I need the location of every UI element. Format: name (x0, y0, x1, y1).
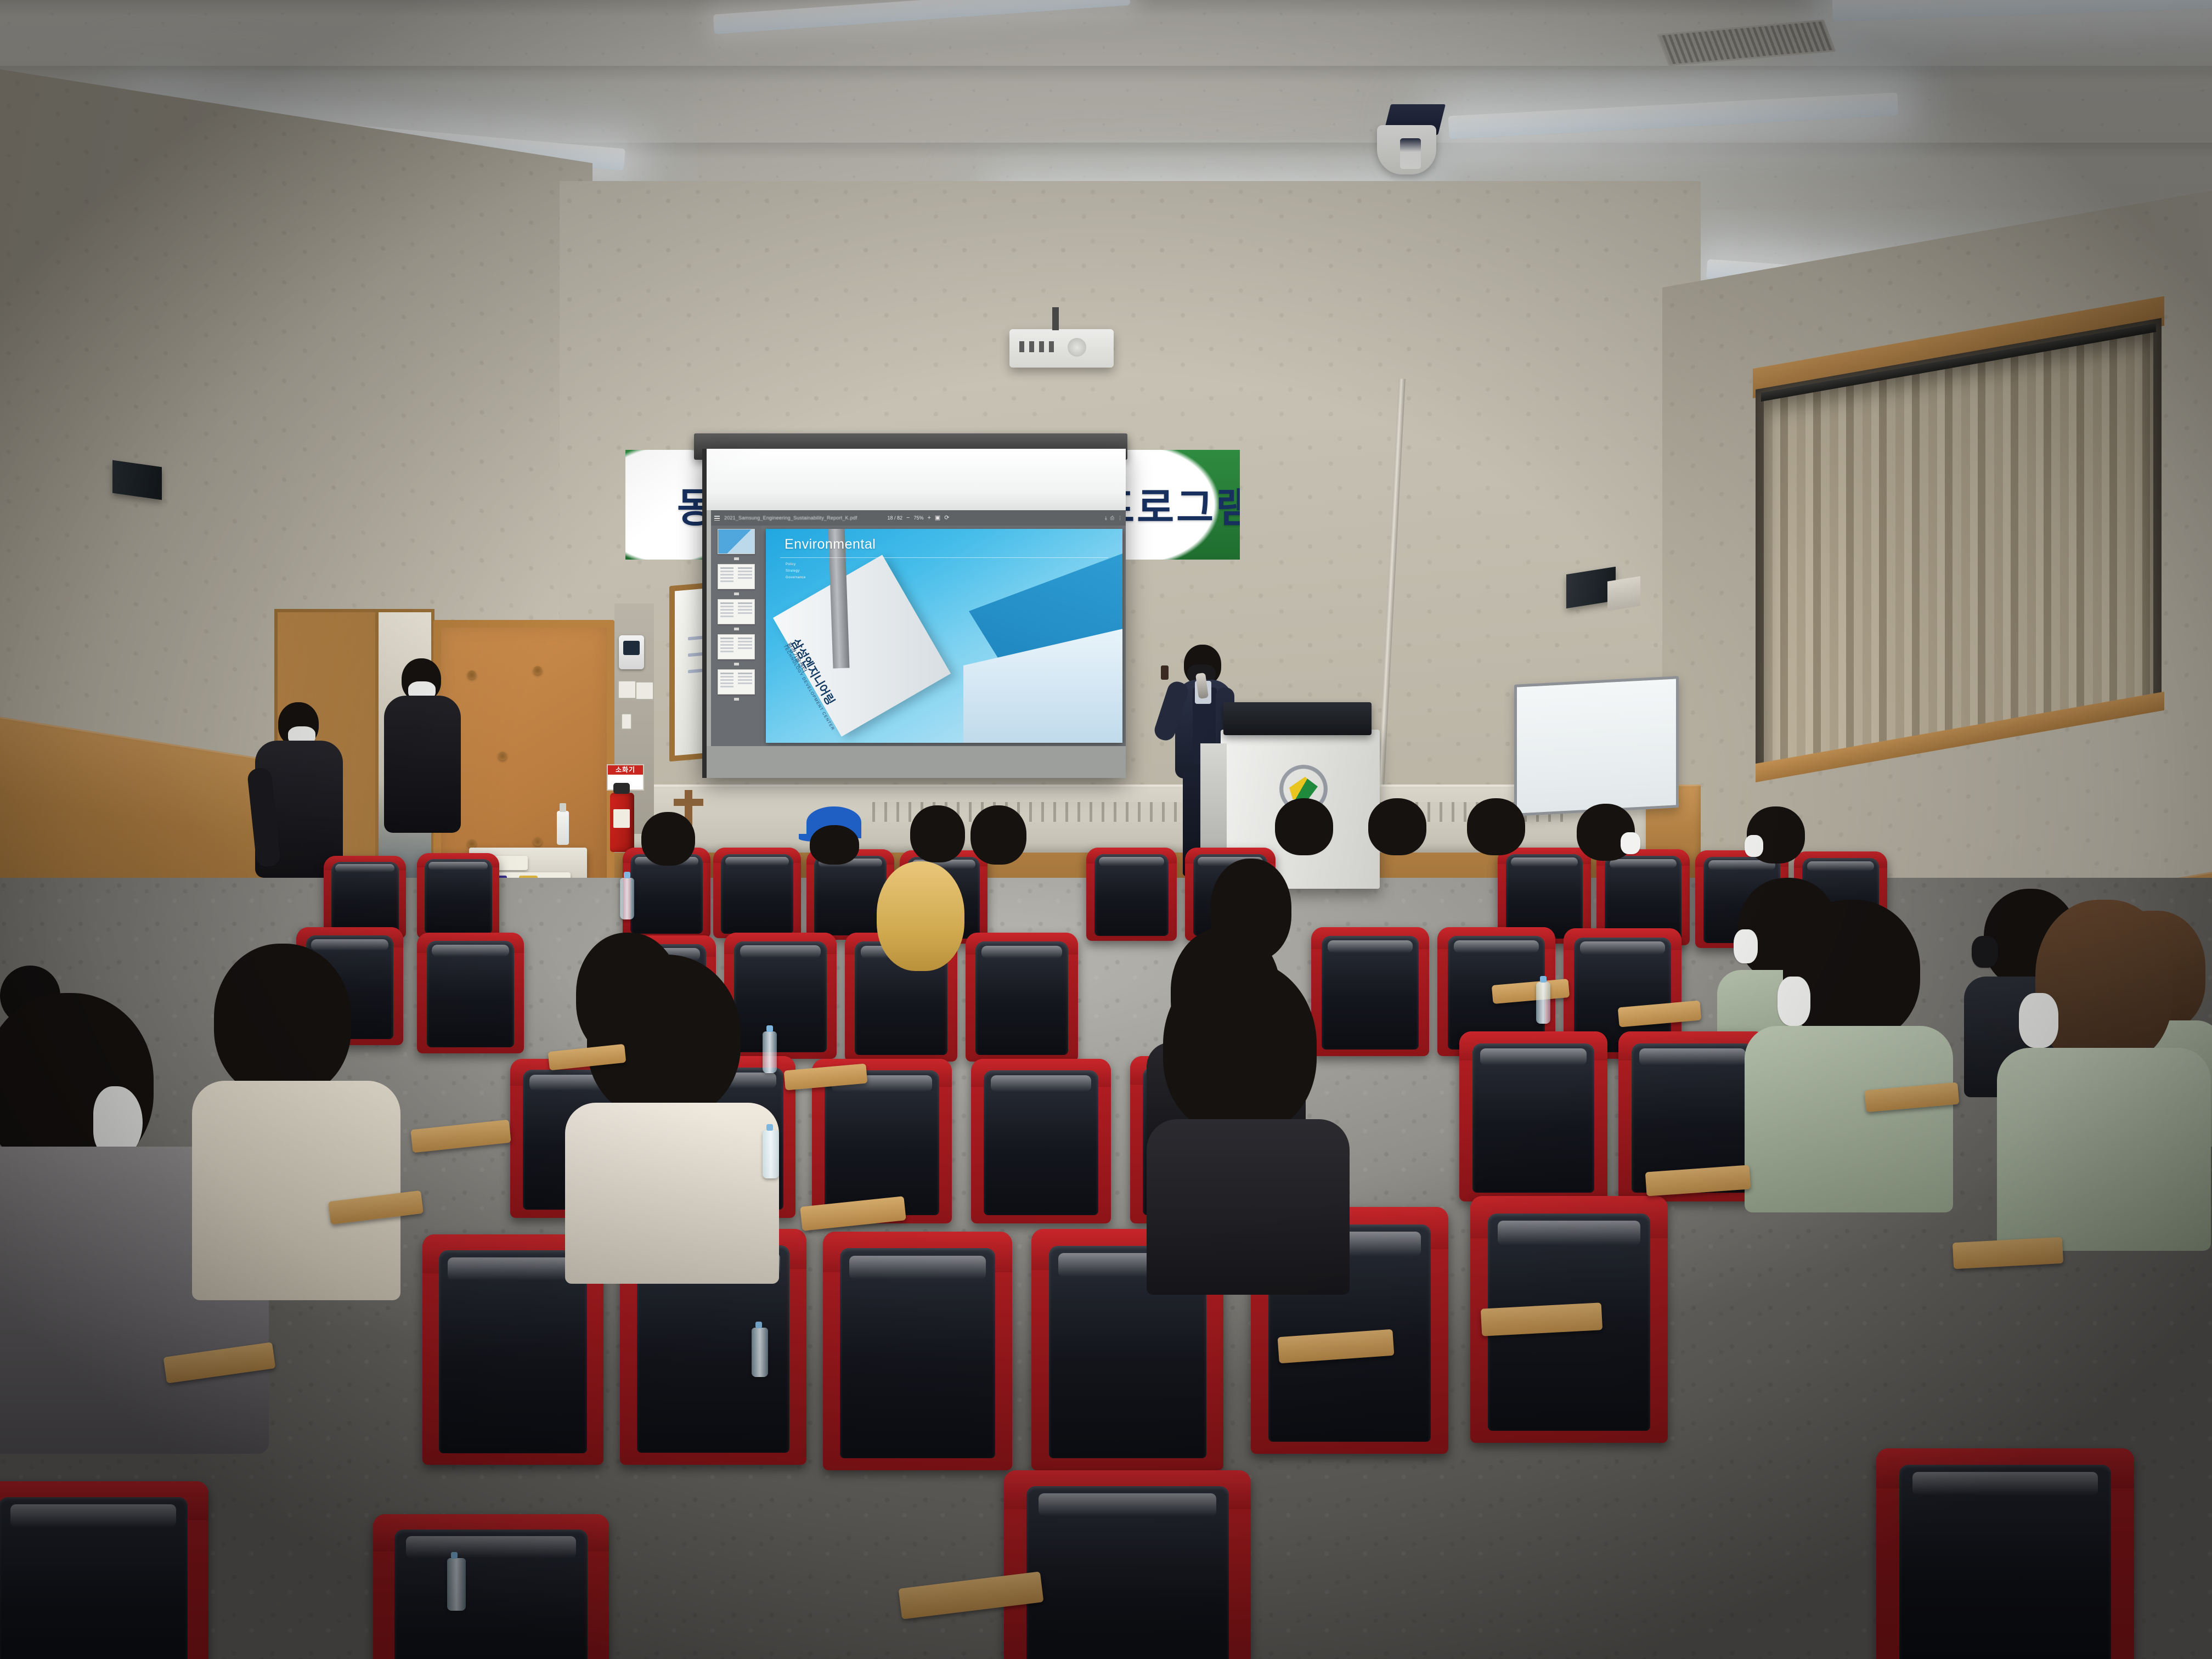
pdf-thumbnail-sidebar[interactable] (711, 526, 761, 746)
audience-head (910, 805, 965, 862)
lecture-hall-photo: 동 프로그램 소화기 (0, 0, 2212, 1659)
fire-extinguisher (610, 793, 634, 852)
staff-member (384, 658, 466, 856)
more-options-icon[interactable]: ⋮ (1118, 515, 1122, 521)
water-bottle (620, 878, 634, 919)
seat (373, 1514, 609, 1659)
download-icon[interactable]: ⤓ (1105, 515, 1107, 521)
seat (417, 853, 499, 938)
water-bottle (763, 1130, 779, 1178)
pdf-thumbnail-number (734, 628, 739, 630)
screen-overexposed-area (707, 449, 1126, 510)
audience-mask (2019, 993, 2058, 1048)
ceiling-camera (1372, 104, 1443, 176)
audience-mask (1734, 929, 1758, 963)
water-bottle (447, 1558, 466, 1611)
pdf-thumbnail[interactable] (718, 599, 755, 624)
page-indicator: 18 / 82 (887, 515, 902, 521)
projection-screen: 2021_Samsung_Engineering_Sustainability_… (702, 449, 1126, 778)
cream-coat (192, 1081, 400, 1300)
audience-member (1575, 804, 1640, 870)
zoom-level: 75% (913, 515, 923, 521)
screen-lower-margin (707, 746, 1126, 778)
slide-bullet: Policy (786, 563, 795, 566)
pdf-toolbar[interactable]: 2021_Samsung_Engineering_Sustainability_… (711, 510, 1126, 526)
audience-member (801, 806, 867, 867)
wall-speaker-bracket (1607, 576, 1640, 611)
water-bottle (752, 1328, 768, 1377)
print-icon[interactable]: ⎙ (1110, 515, 1114, 521)
light-switch[interactable] (635, 681, 654, 700)
wall-speaker (112, 460, 162, 500)
audience-member (582, 955, 763, 1273)
pdf-thumbnail-number (734, 557, 739, 560)
dark-coat (565, 1103, 779, 1284)
seat (971, 1059, 1111, 1223)
podium-emblem-shape (1289, 777, 1318, 801)
brochure-image: 삼성엔지니어링 환경기술센터 TECHNOLOGY DEVELOPMENT CE… (773, 555, 951, 737)
slide-bullet: Governance (786, 576, 806, 579)
seat (823, 1232, 1012, 1470)
sage-jacket (1745, 1026, 1953, 1212)
fire-extinguisher-sign-text: 소화기 (608, 766, 643, 774)
audience-member (1273, 798, 1339, 864)
audience-member (639, 812, 699, 872)
ceiling-projector (1009, 329, 1114, 368)
pdf-toolbar-right[interactable]: ⤓ ⎙ ⋮ (1105, 515, 1122, 521)
audience-member (908, 805, 968, 866)
seat (324, 856, 406, 938)
audience-head (641, 812, 695, 866)
zoom-in-button[interactable]: + (927, 515, 930, 521)
pdf-thumbnail-number (734, 663, 739, 665)
audience-head (1467, 798, 1525, 855)
audience-member (1745, 806, 1810, 872)
audience-member (968, 805, 1029, 867)
audience-head (970, 805, 1026, 865)
outlet (621, 713, 632, 730)
fit-page-icon[interactable]: ▣ (935, 515, 940, 521)
podium-monitor[interactable] (1223, 702, 1372, 735)
blonde-hair (877, 861, 964, 971)
pdf-thumbnail-number (734, 698, 739, 701)
audience-member (2008, 900, 2189, 1251)
pdf-toolbar-center[interactable]: 18 / 82 − 75% + ▣ ⟳ (887, 515, 949, 521)
pdf-thumbnail[interactable] (718, 529, 755, 554)
pdf-page-view[interactable]: 삼성엔지니어링 환경기술센터 TECHNOLOGY DEVELOPMENT CE… (766, 529, 1122, 743)
slide-bullet: Strategy (786, 569, 800, 573)
slide-title-rule (780, 557, 1108, 558)
water-bottle (763, 1031, 777, 1073)
slide-content: 삼성엔지니어링 환경기술센터 TECHNOLOGY DEVELOPMENT CE… (766, 529, 1122, 743)
audience-member (1366, 798, 1432, 864)
audience-member (1465, 798, 1531, 864)
seat (713, 848, 801, 938)
audience-head (1368, 798, 1426, 855)
audience-head (214, 944, 351, 1097)
pdf-thumbnail[interactable] (718, 669, 755, 695)
hand-sanitizer-bottle (557, 811, 569, 845)
presentation-remote (1161, 665, 1169, 680)
pdf-thumbnail[interactable] (718, 564, 755, 589)
audience-member (1158, 960, 1333, 1289)
card-reader-icon[interactable] (619, 635, 644, 669)
light-switch[interactable] (618, 680, 636, 699)
staff-torso (384, 696, 461, 833)
pdf-viewer[interactable]: 2021_Samsung_Engineering_Sustainability_… (711, 510, 1126, 746)
audience-head (1275, 798, 1333, 855)
audience-head (1163, 960, 1317, 1136)
audience-member (872, 861, 971, 988)
audience-mask (1621, 832, 1640, 854)
seat (1459, 1031, 1607, 1201)
audience-mask (1972, 936, 1998, 968)
audience-head (587, 955, 741, 1119)
audience-mask (1745, 835, 1763, 857)
whiteboard (1514, 676, 1679, 816)
seat (1876, 1448, 2134, 1659)
hamburger-icon[interactable] (714, 516, 720, 521)
water-bottle (1536, 982, 1550, 1024)
pdf-thumbnail[interactable] (718, 634, 755, 659)
audience-head (810, 825, 859, 865)
audience-member (1778, 900, 1942, 1207)
zoom-out-button[interactable]: − (906, 515, 910, 521)
slide-title: Environmental (785, 537, 876, 552)
seat (417, 933, 524, 1053)
pdf-thumbnail-number (734, 592, 739, 595)
brown-hair (2035, 900, 2172, 1064)
sage-jacket (1997, 1048, 2211, 1251)
seat (966, 933, 1078, 1062)
seat (0, 1481, 208, 1659)
audience-member (203, 944, 384, 1295)
seat (1004, 1470, 1251, 1659)
rotate-icon[interactable]: ⟳ (944, 515, 949, 521)
pdf-filename: 2021_Samsung_Engineering_Sustainability_… (724, 515, 857, 521)
audience-mask (1778, 977, 1810, 1026)
dark-top (1147, 1119, 1350, 1295)
